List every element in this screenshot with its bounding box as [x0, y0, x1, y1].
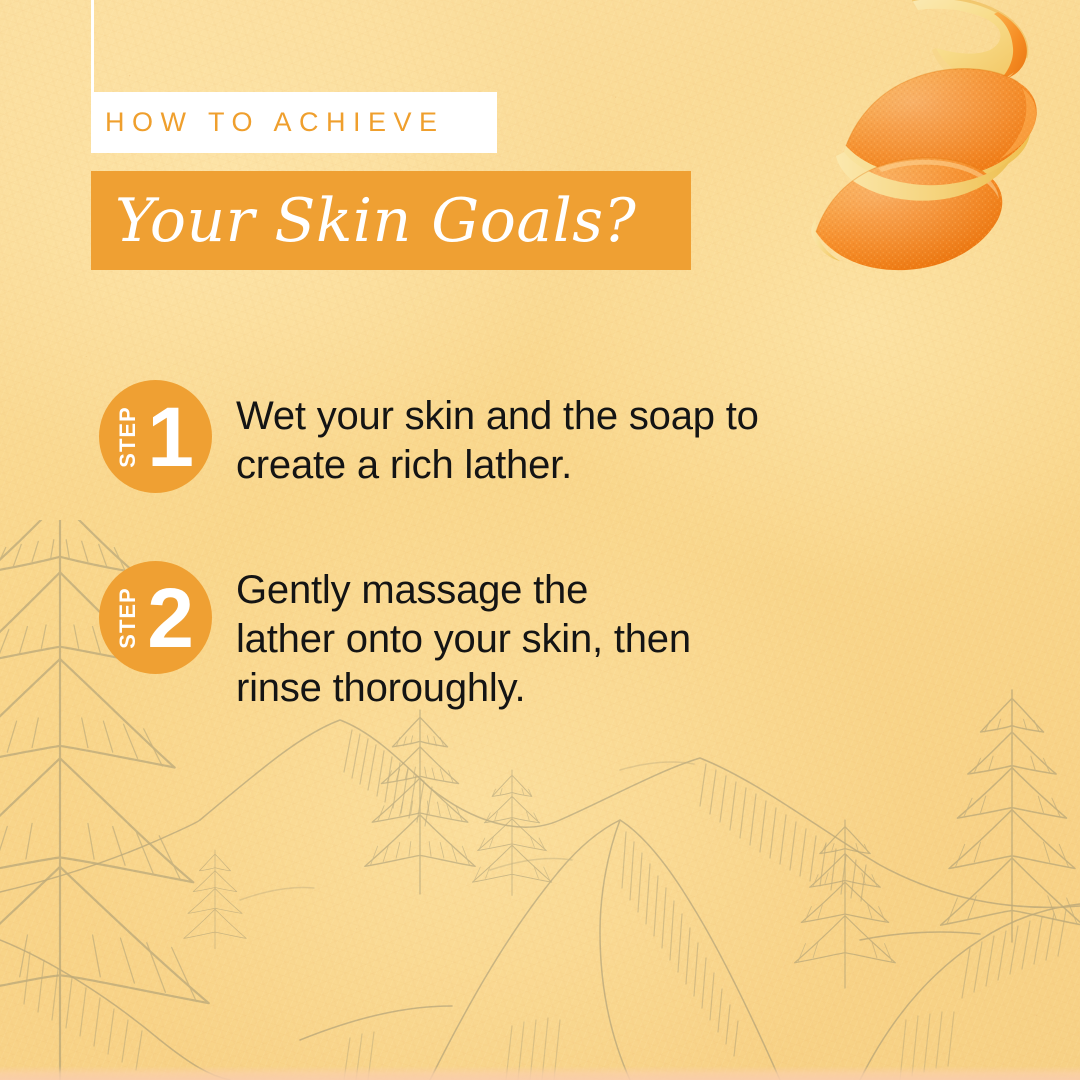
- kicker-banner: HOW TO ACHIEVE: [91, 92, 497, 153]
- step-number-2: 2: [147, 576, 194, 660]
- orange-peel-icon: [786, 0, 1066, 286]
- poster-canvas: HOW TO ACHIEVE Your Skin Goals? STEP 1 W…: [0, 0, 1080, 1080]
- step-item: STEP 2 Gently massage the lather onto yo…: [0, 561, 1080, 712]
- step-description-1: Wet your skin and the soap to create a r…: [236, 380, 759, 490]
- kicker-label: HOW TO ACHIEVE: [91, 107, 445, 138]
- step-word-label-1: STEP: [115, 400, 141, 474]
- step-item: STEP 1 Wet your skin and the soap to cre…: [0, 380, 1080, 493]
- step-description-2: Gently massage the lather onto your skin…: [236, 561, 691, 712]
- header-vertical-rule: [91, 0, 94, 94]
- page-title: Your Skin Goals?: [91, 191, 636, 251]
- step-word-label-2: STEP: [115, 581, 141, 655]
- title-banner: Your Skin Goals?: [91, 171, 691, 270]
- step-number-1: 1: [147, 395, 194, 479]
- step-badge-2: STEP 2: [99, 561, 212, 674]
- step-badge-1: STEP 1: [99, 380, 212, 493]
- paper-bottom-edge: [0, 1066, 1080, 1080]
- steps-list: STEP 1 Wet your skin and the soap to cre…: [0, 380, 1080, 712]
